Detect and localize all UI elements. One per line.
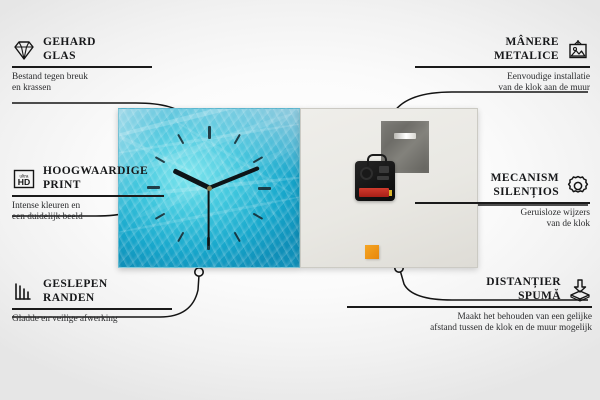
quartz-movement-part xyxy=(355,161,395,201)
callout-rule xyxy=(12,66,152,68)
movement-dial-detail xyxy=(360,167,373,180)
gear-icon xyxy=(566,174,590,198)
leader-dot-geslepen-randen xyxy=(195,268,203,276)
callout-header: GESLEPEN RANDEN xyxy=(12,278,202,305)
spacer-arrow-icon xyxy=(568,278,592,302)
callout-title: GEHARD GLAS xyxy=(43,36,96,63)
callout-subtitle: Geruisloze wijzers van de klok xyxy=(400,208,590,231)
callout-hoogwaardige-print[interactable]: ultra HD HOOGWAARDIGE PRINT Intense kleu… xyxy=(12,165,192,224)
hour-marker-12 xyxy=(208,126,210,188)
callout-header: MÂNERE METALICE xyxy=(400,36,590,63)
infographic-canvas: GEHARD GLAS Bestand tegen breuk en krass… xyxy=(0,0,600,400)
battery-part xyxy=(359,188,389,197)
callout-rule xyxy=(12,195,164,197)
callout-subtitle: Eenvoudige installatie van de klok aan d… xyxy=(400,72,590,95)
hour-marker-3 xyxy=(209,187,271,189)
callout-rule xyxy=(12,308,172,310)
movement-slot-detail xyxy=(377,176,389,180)
callout-rule xyxy=(415,66,590,68)
second-hand xyxy=(208,188,210,246)
callout-title: HOOGWAARDIGE PRINT xyxy=(43,165,148,192)
callout-mecanism-silentios[interactable]: MECANISM SILENȚIOS Geruisloze wijzers va… xyxy=(400,172,590,231)
callout-title: DISTANȚIER SPUMĂ xyxy=(486,276,561,303)
callout-subtitle: Maakt het behouden van een gelijke afsta… xyxy=(302,312,592,335)
callout-gehard-glas[interactable]: GEHARD GLAS Bestand tegen breuk en krass… xyxy=(12,36,192,95)
callout-subtitle: Bestand tegen breuk en krassen xyxy=(12,72,192,95)
callout-rule xyxy=(347,306,592,308)
callout-header: DISTANȚIER SPUMĂ xyxy=(302,276,592,303)
foam-spacer-part xyxy=(365,245,379,259)
callout-rule xyxy=(415,202,590,204)
callout-manere-metalice[interactable]: MÂNERE METALICE Eenvoudige installatie v… xyxy=(400,36,590,95)
callout-title: MÂNERE METALICE xyxy=(494,36,559,63)
callout-title: MECANISM SILENȚIOS xyxy=(491,172,559,199)
movement-label-detail xyxy=(379,166,389,173)
callout-header: ultra HD HOOGWAARDIGE PRINT xyxy=(12,165,192,192)
movement-hanging-loop xyxy=(367,154,387,166)
hands-center-cap xyxy=(207,186,212,191)
hanger-slot xyxy=(394,133,416,139)
picture-hanger-icon xyxy=(566,38,590,62)
callout-subtitle: Intense kleuren en een duidelijk beeld xyxy=(12,201,192,224)
callout-header: GEHARD GLAS xyxy=(12,36,192,63)
callout-header: MECANISM SILENȚIOS xyxy=(400,172,590,199)
callout-distantier-spuma[interactable]: DISTANȚIER SPUMĂ Maakt het behouden van … xyxy=(302,276,592,335)
callout-geslepen-randen[interactable]: GESLEPEN RANDEN Gladde en veilige afwerk… xyxy=(12,278,202,325)
svg-text:HD: HD xyxy=(18,177,30,187)
callout-title: GESLEPEN RANDEN xyxy=(43,278,108,305)
polished-edges-icon xyxy=(12,280,36,304)
diamond-icon xyxy=(12,38,36,62)
callout-subtitle: Gladde en veilige afwerking xyxy=(12,314,202,326)
ultra-hd-icon: ultra HD xyxy=(12,167,36,191)
